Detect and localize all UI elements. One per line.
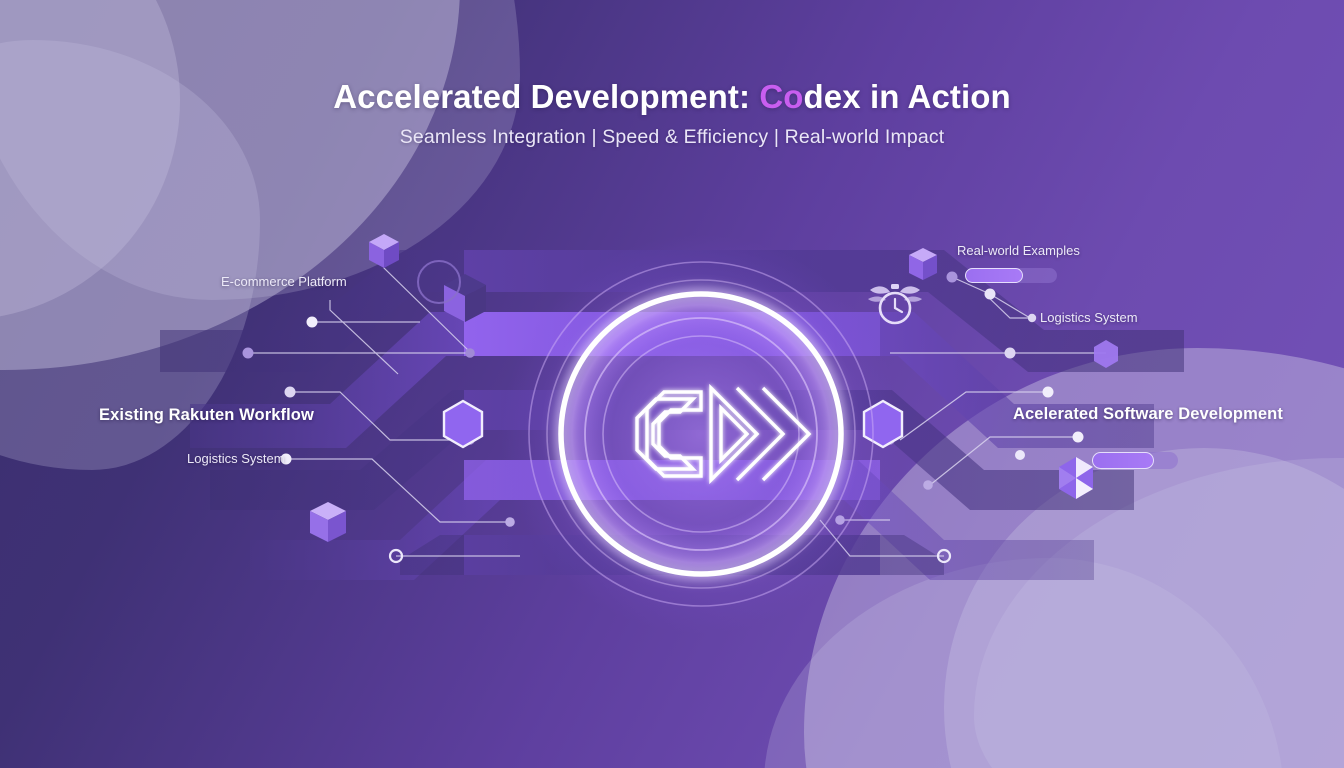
progress-bar-bottom-right — [1092, 452, 1178, 469]
page-title: Accelerated Development: Codex in Action — [0, 78, 1344, 116]
label-ecommerce-platform: E-commerce Platform — [221, 274, 347, 289]
codex-logo-icon — [525, 258, 877, 610]
gem-hexagon-icon — [1056, 455, 1096, 501]
label-logistics-system-left: Logistics System — [187, 451, 285, 466]
label-existing-rakuten-workflow: Existing Rakuten Workflow — [99, 406, 314, 425]
label-real-world-examples: Real-world Examples — [957, 243, 1080, 258]
cube-icon — [366, 232, 402, 272]
hexagon-icon — [440, 398, 486, 450]
page-subtitle: Seamless Integration | Speed & Efficienc… — [0, 126, 1344, 149]
progress-bar-fill — [965, 268, 1023, 283]
title-accent: Co — [759, 78, 803, 115]
header-block: Accelerated Development: Codex in Action… — [0, 78, 1344, 149]
cube-icon — [307, 500, 349, 546]
hexagon-icon — [1092, 338, 1120, 370]
label-accelerated-software-development: Acelerated Software Development — [1013, 405, 1283, 424]
title-prefix: Accelerated Development: — [333, 78, 759, 115]
progress-bar-top-right — [965, 268, 1057, 283]
slide-canvas: Accelerated Development: Codex in Action… — [0, 0, 1344, 768]
title-suffix: dex in Action — [804, 78, 1011, 115]
circle-outline-icon — [415, 258, 463, 306]
progress-bar-fill — [1092, 452, 1154, 469]
label-logistics-system-right: Logistics System — [1040, 310, 1138, 325]
